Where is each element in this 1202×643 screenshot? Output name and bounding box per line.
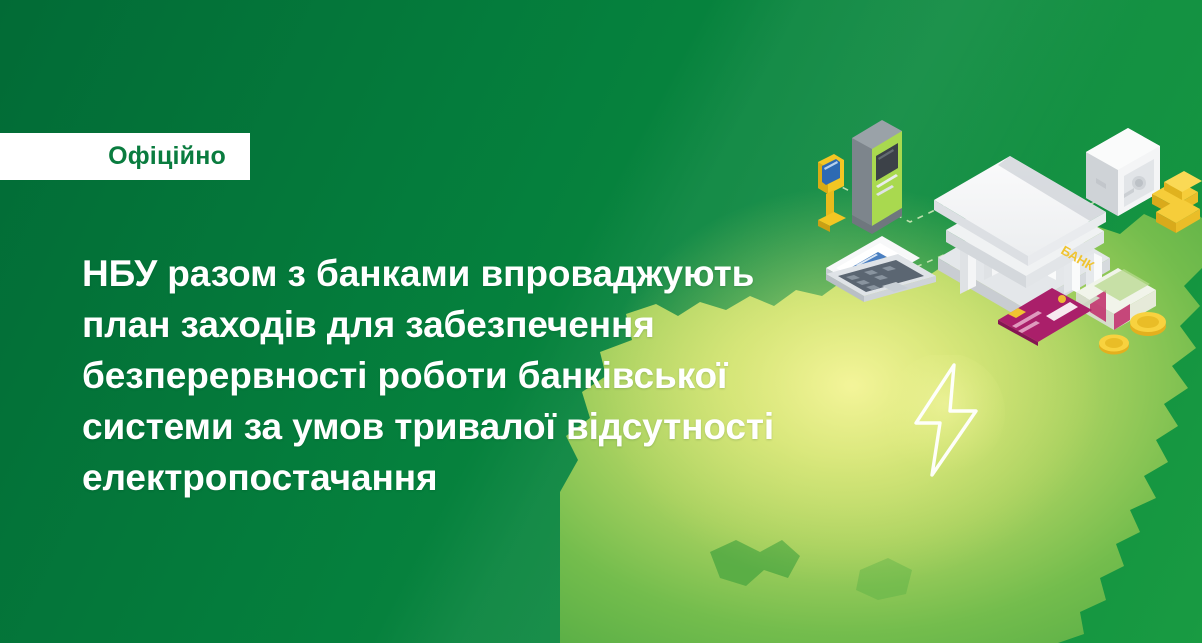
announcement-card: БАНК [0, 0, 1202, 643]
headline-line-3: безперервності роботи банківської [82, 350, 812, 401]
safe-vault [1086, 128, 1160, 216]
headline-line-5: електропостачання [82, 452, 812, 503]
atm-machine [852, 120, 902, 234]
headline-line-4: системи за умов тривалої відсутності [82, 401, 812, 452]
headline-line-1: НБУ разом з банками впроваджують [82, 248, 812, 299]
laptop [826, 236, 936, 302]
headline-line-2: план заходів для забезпечення [82, 299, 812, 350]
isometric-banking-illustration: БАНК [760, 90, 1202, 390]
official-badge-label: Офіційно [108, 144, 226, 169]
official-badge: Офіційно [0, 133, 250, 180]
pos-terminal [818, 154, 846, 232]
headline: НБУ разом з банками впроваджують план за… [82, 248, 812, 503]
lightning-bolt-icon [880, 355, 1010, 485]
